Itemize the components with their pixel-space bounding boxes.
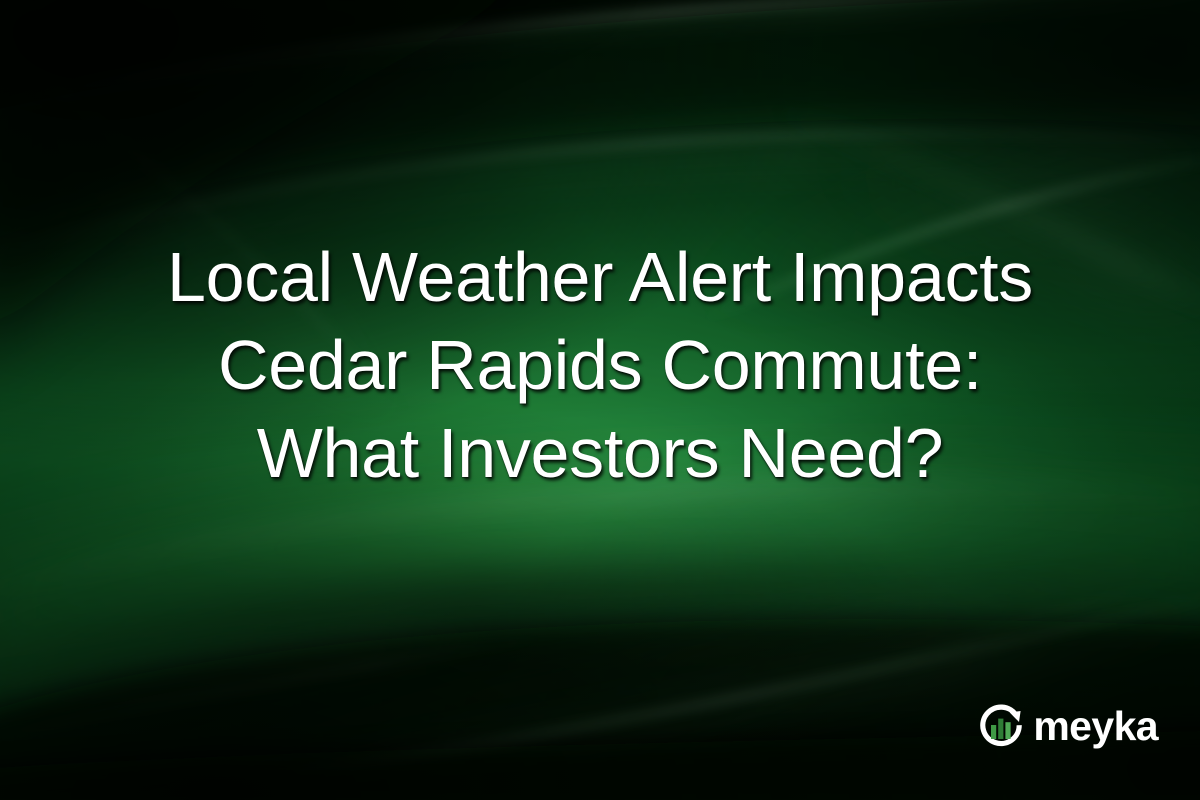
page-title: Local Weather Alert Impacts Cedar Rapids…: [0, 233, 1200, 497]
brand-logo-lockup[interactable]: meyka: [976, 702, 1158, 752]
brand-wordmark: meyka: [1033, 706, 1158, 747]
meyka-bar-chart-ring-icon: [976, 702, 1026, 752]
article-share-card: Local Weather Alert Impacts Cedar Rapids…: [0, 0, 1200, 800]
